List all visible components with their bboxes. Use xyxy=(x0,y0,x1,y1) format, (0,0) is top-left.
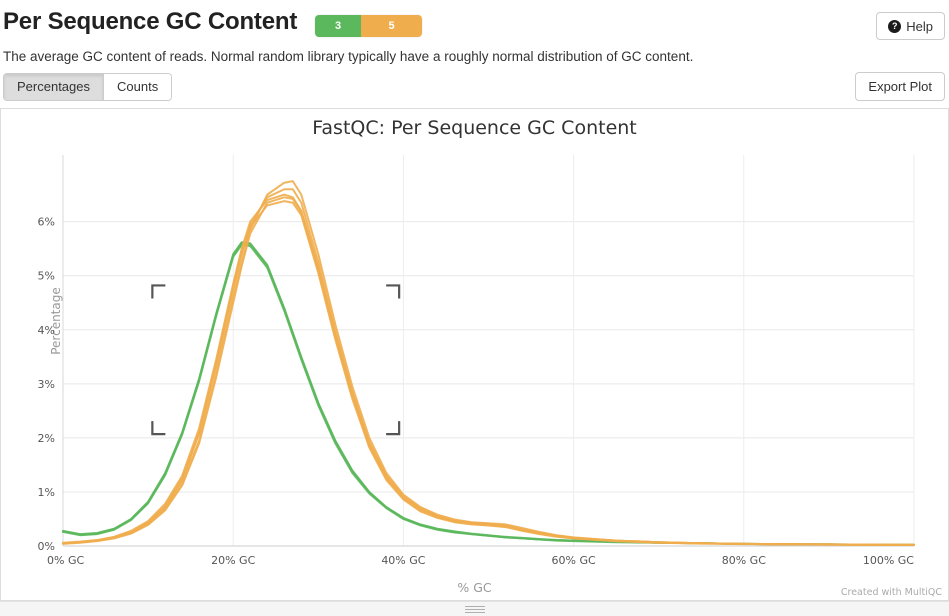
status-badge: 3 5 xyxy=(315,15,422,37)
help-button-label: Help xyxy=(906,19,933,34)
x-tick-label: 0% GC xyxy=(47,554,84,567)
y-tick-label: 1% xyxy=(38,486,55,499)
module-header: Per Sequence GC Content 3 5 ? Help xyxy=(0,0,949,44)
x-axis-label: % GC xyxy=(1,580,948,595)
status-badge-pass-count[interactable]: 3 xyxy=(315,15,361,37)
help-button[interactable]: ? Help xyxy=(876,12,945,40)
series-line[interactable] xyxy=(63,245,914,545)
resize-grip-icon xyxy=(465,606,485,613)
series-line[interactable] xyxy=(63,243,914,545)
y-tick-label: 5% xyxy=(38,270,55,283)
tab-percentages[interactable]: Percentages xyxy=(4,74,104,100)
y-tick-label: 6% xyxy=(38,216,55,229)
selection-handle-top-left[interactable] xyxy=(152,285,165,298)
series-line[interactable] xyxy=(63,197,914,545)
x-tick-label: 60% GC xyxy=(552,554,596,567)
x-tick-label: 40% GC xyxy=(381,554,425,567)
plot-resize-handle[interactable] xyxy=(0,601,949,616)
x-tick-label: 20% GC xyxy=(211,554,255,567)
y-tick-label: 3% xyxy=(38,378,55,391)
tab-counts[interactable]: Counts xyxy=(104,74,171,100)
selection-handle-bottom-right[interactable] xyxy=(386,421,399,434)
selection-handle-top-right[interactable] xyxy=(386,285,399,298)
export-plot-button[interactable]: Export Plot xyxy=(855,72,945,101)
status-badge-warn-count[interactable]: 5 xyxy=(361,15,422,37)
y-tick-label: 0% xyxy=(38,540,55,553)
page-title: Per Sequence GC Content xyxy=(3,8,297,36)
y-tick-label: 2% xyxy=(38,432,55,445)
question-circle-icon: ? xyxy=(888,20,901,33)
x-tick-label: 80% GC xyxy=(722,554,766,567)
multiqc-credit: Created with MultiQC xyxy=(841,587,942,598)
x-tick-label: 100% GC xyxy=(863,554,914,567)
plot-type-tabs: Percentages Counts xyxy=(3,73,172,101)
series-line[interactable] xyxy=(63,181,914,545)
y-tick-label: 4% xyxy=(38,324,55,337)
selection-handle-bottom-left[interactable] xyxy=(152,421,165,434)
series-line[interactable] xyxy=(63,201,914,545)
multiqc-plot-page: Per Sequence GC Content 3 5 ? Help The a… xyxy=(0,0,949,616)
plot-panel: FastQC: Per Sequence GC Content Percenta… xyxy=(0,108,949,601)
series-line[interactable] xyxy=(63,242,914,545)
module-description: The average GC content of reads. Normal … xyxy=(3,49,693,64)
gc-content-line-chart[interactable]: 0%1%2%3%4%5%6%0% GC20% GC40% GC60% GC80%… xyxy=(1,109,948,579)
